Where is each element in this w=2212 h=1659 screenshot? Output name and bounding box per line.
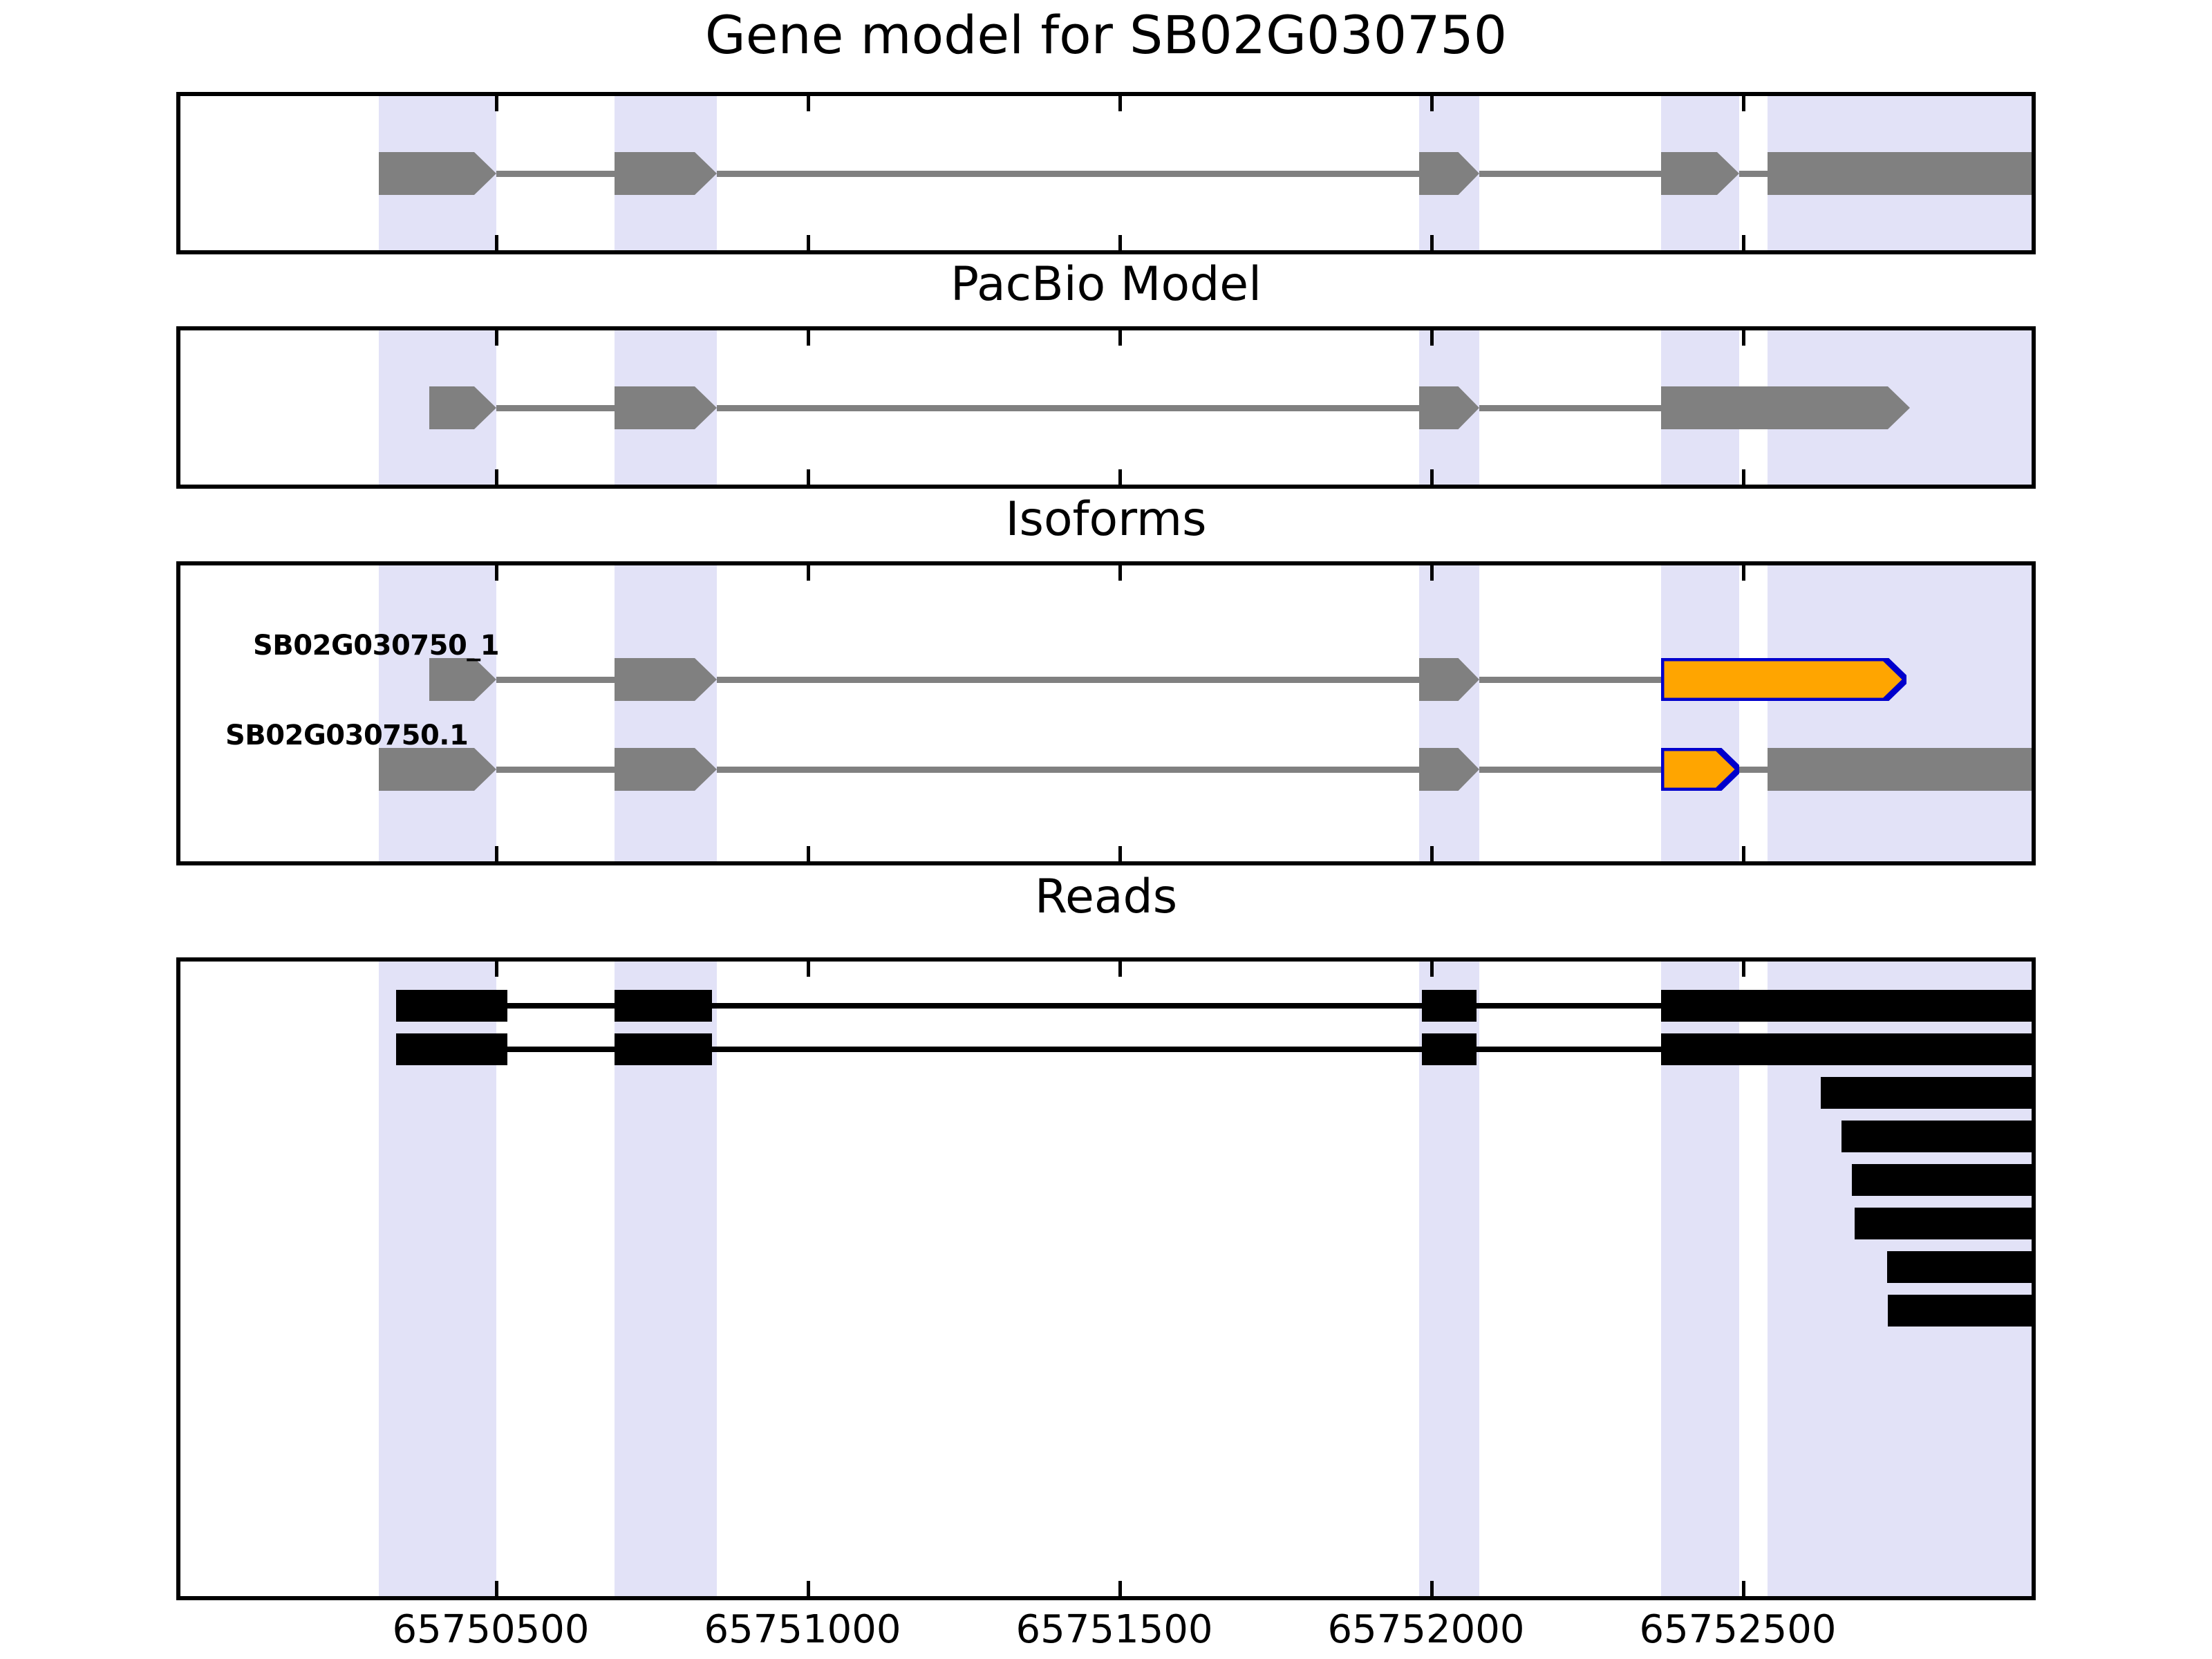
read-block xyxy=(1887,1251,2036,1283)
plot-area-isoforms: SB02G030750_1 SB02G030750.1 xyxy=(180,565,2032,861)
exon-highlight-band xyxy=(1661,565,1739,861)
axis-tick-bottom xyxy=(1118,469,1122,485)
isoform-label: SB02G030750_1 xyxy=(253,630,499,662)
axis-tick-bottom xyxy=(807,235,810,250)
plot-area-gene-model xyxy=(180,96,2032,250)
read-block xyxy=(1888,1295,2036,1327)
x-axis-tick-label: 65751000 xyxy=(704,1607,901,1652)
axis-tick-top xyxy=(1118,330,1122,346)
exon-block xyxy=(615,658,717,701)
exon-block xyxy=(615,748,717,791)
axis-tick-top xyxy=(495,96,498,111)
intron-line xyxy=(496,677,615,683)
intron-line xyxy=(496,767,615,773)
exon-block xyxy=(429,386,496,429)
x-axis-tick-label: 65752000 xyxy=(1327,1607,1524,1652)
intron-line xyxy=(717,767,1419,773)
intron-line xyxy=(1479,171,1661,177)
x-axis-tick-label: 65750500 xyxy=(392,1607,589,1652)
intron-line xyxy=(717,405,1419,411)
panel-gene-model xyxy=(176,92,2036,254)
exon-block xyxy=(379,748,496,791)
axis-tick-bottom xyxy=(1742,1581,1745,1596)
axis-tick-top xyxy=(1118,962,1122,977)
plot-area-pacbio xyxy=(180,330,2032,485)
read-block xyxy=(615,1033,712,1065)
axis-tick-bottom xyxy=(495,469,498,485)
read-block xyxy=(1661,1033,2036,1065)
read-block xyxy=(396,990,507,1022)
exon-block xyxy=(1419,386,1479,429)
exon-highlight-band xyxy=(615,565,717,861)
read-block xyxy=(1855,1208,2036,1239)
axis-tick-top xyxy=(1742,330,1745,346)
panel-title-reads: Reads xyxy=(0,870,2212,924)
intron-line xyxy=(717,171,1419,177)
panel-isoforms: SB02G030750_1 SB02G030750.1 xyxy=(176,561,2036,865)
intron-line xyxy=(712,1003,1422,1009)
axis-tick-top xyxy=(1742,565,1745,581)
exon-highlighted xyxy=(1661,658,1906,701)
axis-tick-top xyxy=(807,565,810,581)
read-block xyxy=(396,1033,507,1065)
read-block xyxy=(1852,1164,2036,1196)
intron-line xyxy=(1479,677,1661,683)
axis-tick-top xyxy=(495,565,498,581)
axis-tick-bottom xyxy=(1118,846,1122,861)
read-block xyxy=(615,990,712,1022)
intron-line xyxy=(712,1047,1422,1052)
axis-tick-top xyxy=(1742,962,1745,977)
axis-tick-top xyxy=(1430,330,1434,346)
intron-line xyxy=(1477,1047,1661,1052)
axis-tick-bottom xyxy=(1118,235,1122,250)
exon-block xyxy=(1419,152,1479,195)
panel-pacbio-model xyxy=(176,326,2036,489)
axis-tick-bottom xyxy=(807,1581,810,1596)
isoform-label: SB02G030750.1 xyxy=(225,720,468,751)
exon-block xyxy=(615,152,717,195)
intron-line xyxy=(717,677,1419,683)
axis-tick-top xyxy=(1742,96,1745,111)
intron-line xyxy=(1477,1003,1661,1009)
axis-tick-bottom xyxy=(1742,469,1745,485)
axis-tick-top xyxy=(1430,96,1434,111)
intron-line xyxy=(1479,405,1661,411)
intron-line xyxy=(1739,767,1768,773)
intron-line xyxy=(1479,767,1661,773)
axis-tick-top xyxy=(807,962,810,977)
axis-tick-bottom xyxy=(495,1581,498,1596)
axis-tick-top xyxy=(1430,565,1434,581)
exon-block xyxy=(1661,386,1910,429)
axis-tick-bottom xyxy=(1742,846,1745,861)
axis-tick-bottom xyxy=(1430,1581,1434,1596)
read-block xyxy=(1661,990,2036,1022)
exon-block xyxy=(1419,748,1479,791)
panel-reads xyxy=(176,957,2036,1600)
read-block xyxy=(1841,1121,2036,1152)
axis-tick-bottom xyxy=(1742,235,1745,250)
gene-model-figure: Gene model for SB02G030750 PacBio Model xyxy=(0,0,2212,1659)
x-axis-tick-label: 65752500 xyxy=(1639,1607,1836,1652)
intron-line xyxy=(507,1047,615,1052)
intron-line xyxy=(496,171,615,177)
panel-title-pacbio: PacBio Model xyxy=(0,257,2212,312)
panel-title-isoforms: Isoforms xyxy=(0,492,2212,547)
exon-highlight-band xyxy=(1768,565,2036,861)
exon-block xyxy=(1419,658,1479,701)
exon-block xyxy=(1768,748,2036,791)
exon-highlight-band xyxy=(1419,565,1479,861)
read-block xyxy=(1422,1033,1477,1065)
intron-line xyxy=(1739,171,1768,177)
axis-tick-bottom xyxy=(495,846,498,861)
exon-highlight-band xyxy=(379,565,496,861)
exon-block xyxy=(429,658,496,701)
axis-tick-bottom xyxy=(807,846,810,861)
exon-highlighted xyxy=(1661,748,1739,791)
intron-line xyxy=(507,1003,615,1009)
axis-tick-bottom xyxy=(1118,1581,1122,1596)
axis-tick-top xyxy=(495,330,498,346)
axis-tick-top xyxy=(495,962,498,977)
exon-block xyxy=(379,152,496,195)
axis-tick-bottom xyxy=(807,469,810,485)
axis-tick-bottom xyxy=(1430,235,1434,250)
read-block xyxy=(1821,1077,2036,1109)
exon-block xyxy=(1768,152,2036,195)
exon-block xyxy=(1661,152,1739,195)
axis-tick-top xyxy=(1430,962,1434,977)
page-title: Gene model for SB02G030750 xyxy=(0,4,2212,66)
axis-tick-top xyxy=(807,96,810,111)
plot-area-reads xyxy=(180,962,2032,1596)
intron-line xyxy=(496,405,615,411)
read-block xyxy=(1422,990,1477,1022)
axis-tick-bottom xyxy=(495,235,498,250)
axis-tick-top xyxy=(1118,96,1122,111)
exon-block xyxy=(615,386,717,429)
axis-tick-top xyxy=(1118,565,1122,581)
x-axis-tick-label: 65751500 xyxy=(1015,1607,1212,1652)
axis-tick-bottom xyxy=(1430,846,1434,861)
axis-tick-top xyxy=(807,330,810,346)
axis-tick-bottom xyxy=(1430,469,1434,485)
